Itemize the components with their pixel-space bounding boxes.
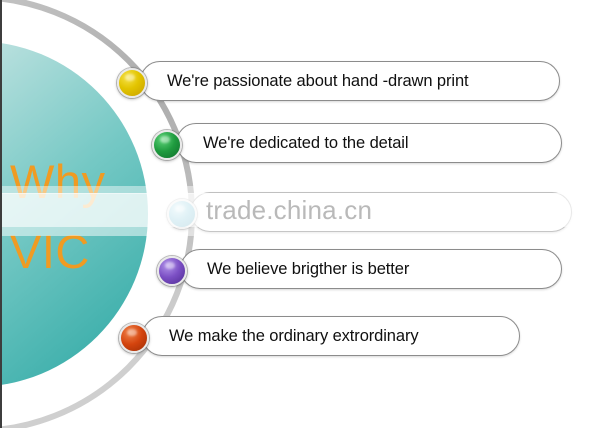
node-yellow-icon[interactable] (117, 68, 147, 98)
headline-line-1: Why (10, 158, 106, 205)
left-edge-rule (0, 0, 2, 428)
bullet-pill-1[interactable]: We're passionate about hand -drawn print (140, 61, 560, 101)
slide-canvas: Why VIC We're passionate about hand -dra… (0, 0, 600, 428)
bullet-row-4[interactable]: We believe brigther is better (180, 249, 562, 289)
bullet-row-3[interactable] (190, 192, 572, 232)
bullet-row-2[interactable]: We're dedicated to the detail (176, 123, 562, 163)
node-cyan-icon[interactable] (167, 199, 197, 229)
bullet-pill-5[interactable]: We make the ordinary extrordinary (142, 316, 520, 356)
bullet-row-1[interactable]: We're passionate about hand -drawn print (140, 61, 560, 101)
bullet-row-5[interactable]: We make the ordinary extrordinary (142, 316, 520, 356)
bullet-label-1: We're passionate about hand -drawn print (167, 72, 469, 91)
bullet-pill-2[interactable]: We're dedicated to the detail (176, 123, 562, 163)
bullet-pill-4[interactable]: We believe brigther is better (180, 249, 562, 289)
bullet-label-5: We make the ordinary extrordinary (169, 327, 419, 346)
node-purple-icon[interactable] (157, 256, 187, 286)
node-orange-icon[interactable] (119, 323, 149, 353)
node-green-icon[interactable] (152, 130, 182, 160)
bullet-label-2: We're dedicated to the detail (203, 134, 408, 153)
bullet-label-4: We believe brigther is better (207, 260, 409, 279)
headline-line-2: VIC (10, 228, 90, 275)
bullet-pill-3[interactable] (190, 192, 572, 232)
